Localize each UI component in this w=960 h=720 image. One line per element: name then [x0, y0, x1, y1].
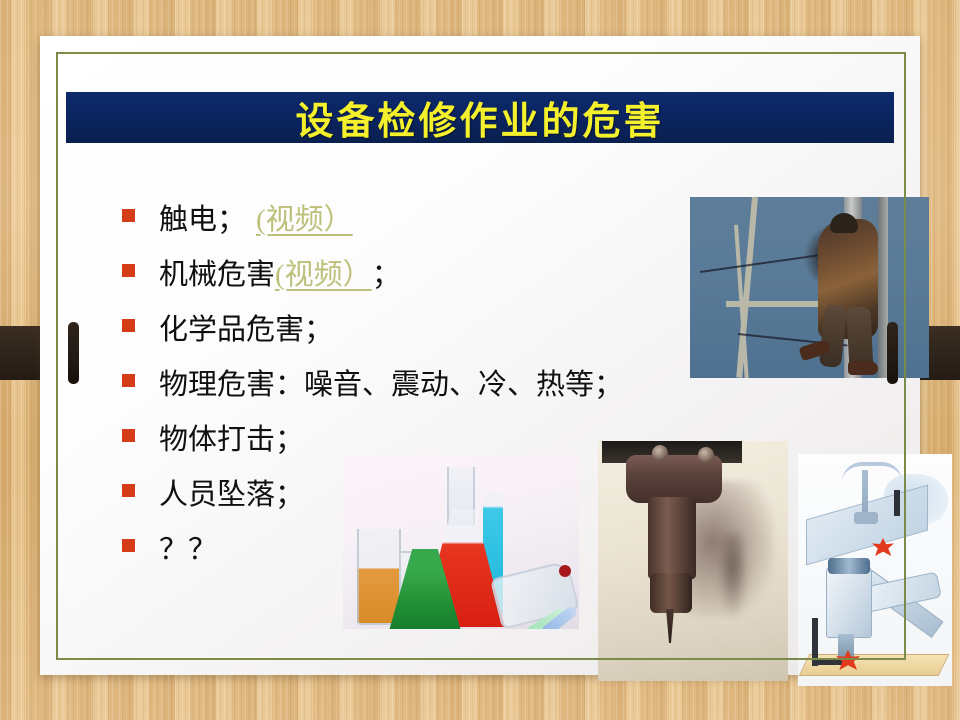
- bullet-label-3: 化学品危害；: [159, 306, 333, 348]
- list-item: 物体打击；: [122, 416, 762, 471]
- ribbon-end-cap-right: [887, 322, 898, 384]
- slide-title: 设备检修作业的危害: [295, 90, 664, 145]
- presser-foot: [854, 512, 878, 524]
- worker-boot: [848, 361, 878, 375]
- square-bullet-icon: [122, 484, 135, 497]
- slide-card: 设备检修作业的危害 触电； (视频） 机械危害 (视频） ； 化学品危害； 物理…: [40, 36, 920, 675]
- video-link-1[interactable]: (视频）: [256, 196, 353, 238]
- bullet-label-6: 人员坠落；: [159, 471, 304, 513]
- worker-helmet: [830, 213, 858, 233]
- clamp-bracket-base: [812, 660, 846, 665]
- ribbon-end-cap-left: [68, 322, 79, 384]
- square-bullet-icon: [122, 319, 135, 332]
- bullet-label-4: 物理危害：噪音、震动、冷、热等；: [159, 361, 623, 403]
- machine-illustration: [798, 454, 952, 686]
- nail-gun-body: [826, 566, 872, 638]
- square-bullet-icon: [122, 264, 135, 277]
- wood-board: [799, 654, 950, 676]
- list-item: 化学品危害；: [122, 306, 762, 361]
- bullet-label-1: 触电；: [159, 196, 246, 238]
- clamp-bracket: [812, 618, 818, 666]
- nail-gun-cap: [828, 558, 870, 574]
- list-item: 触电； (视频）: [122, 196, 762, 251]
- square-bullet-icon: [122, 429, 135, 442]
- list-item: 人员坠落；: [122, 471, 762, 526]
- bullet-label-5: 物体打击；: [159, 416, 304, 458]
- square-bullet-icon: [122, 374, 135, 387]
- slide-title-bar: 设备检修作业的危害: [66, 92, 894, 143]
- video-link-2[interactable]: (视频）: [275, 251, 372, 293]
- square-bullet-icon: [122, 209, 135, 222]
- drill-bit: [666, 609, 674, 643]
- list-item: 机械危害 (视频） ；: [122, 251, 762, 306]
- bullet-suffix-2: ；: [372, 251, 401, 293]
- needle-pin: [894, 490, 900, 516]
- square-bullet-icon: [122, 539, 135, 552]
- list-item: 物理危害：噪音、震动、冷、热等；: [122, 361, 762, 416]
- sewing-machine-arm: [842, 462, 902, 482]
- list-item: ？？: [122, 526, 762, 581]
- bullet-label-2: 机械危害: [159, 251, 275, 293]
- bullet-label-7: ？？: [159, 526, 217, 568]
- hazard-bullet-list: 触电； (视频） 机械危害 (视频） ； 化学品危害； 物理危害：噪音、震动、冷…: [122, 196, 762, 581]
